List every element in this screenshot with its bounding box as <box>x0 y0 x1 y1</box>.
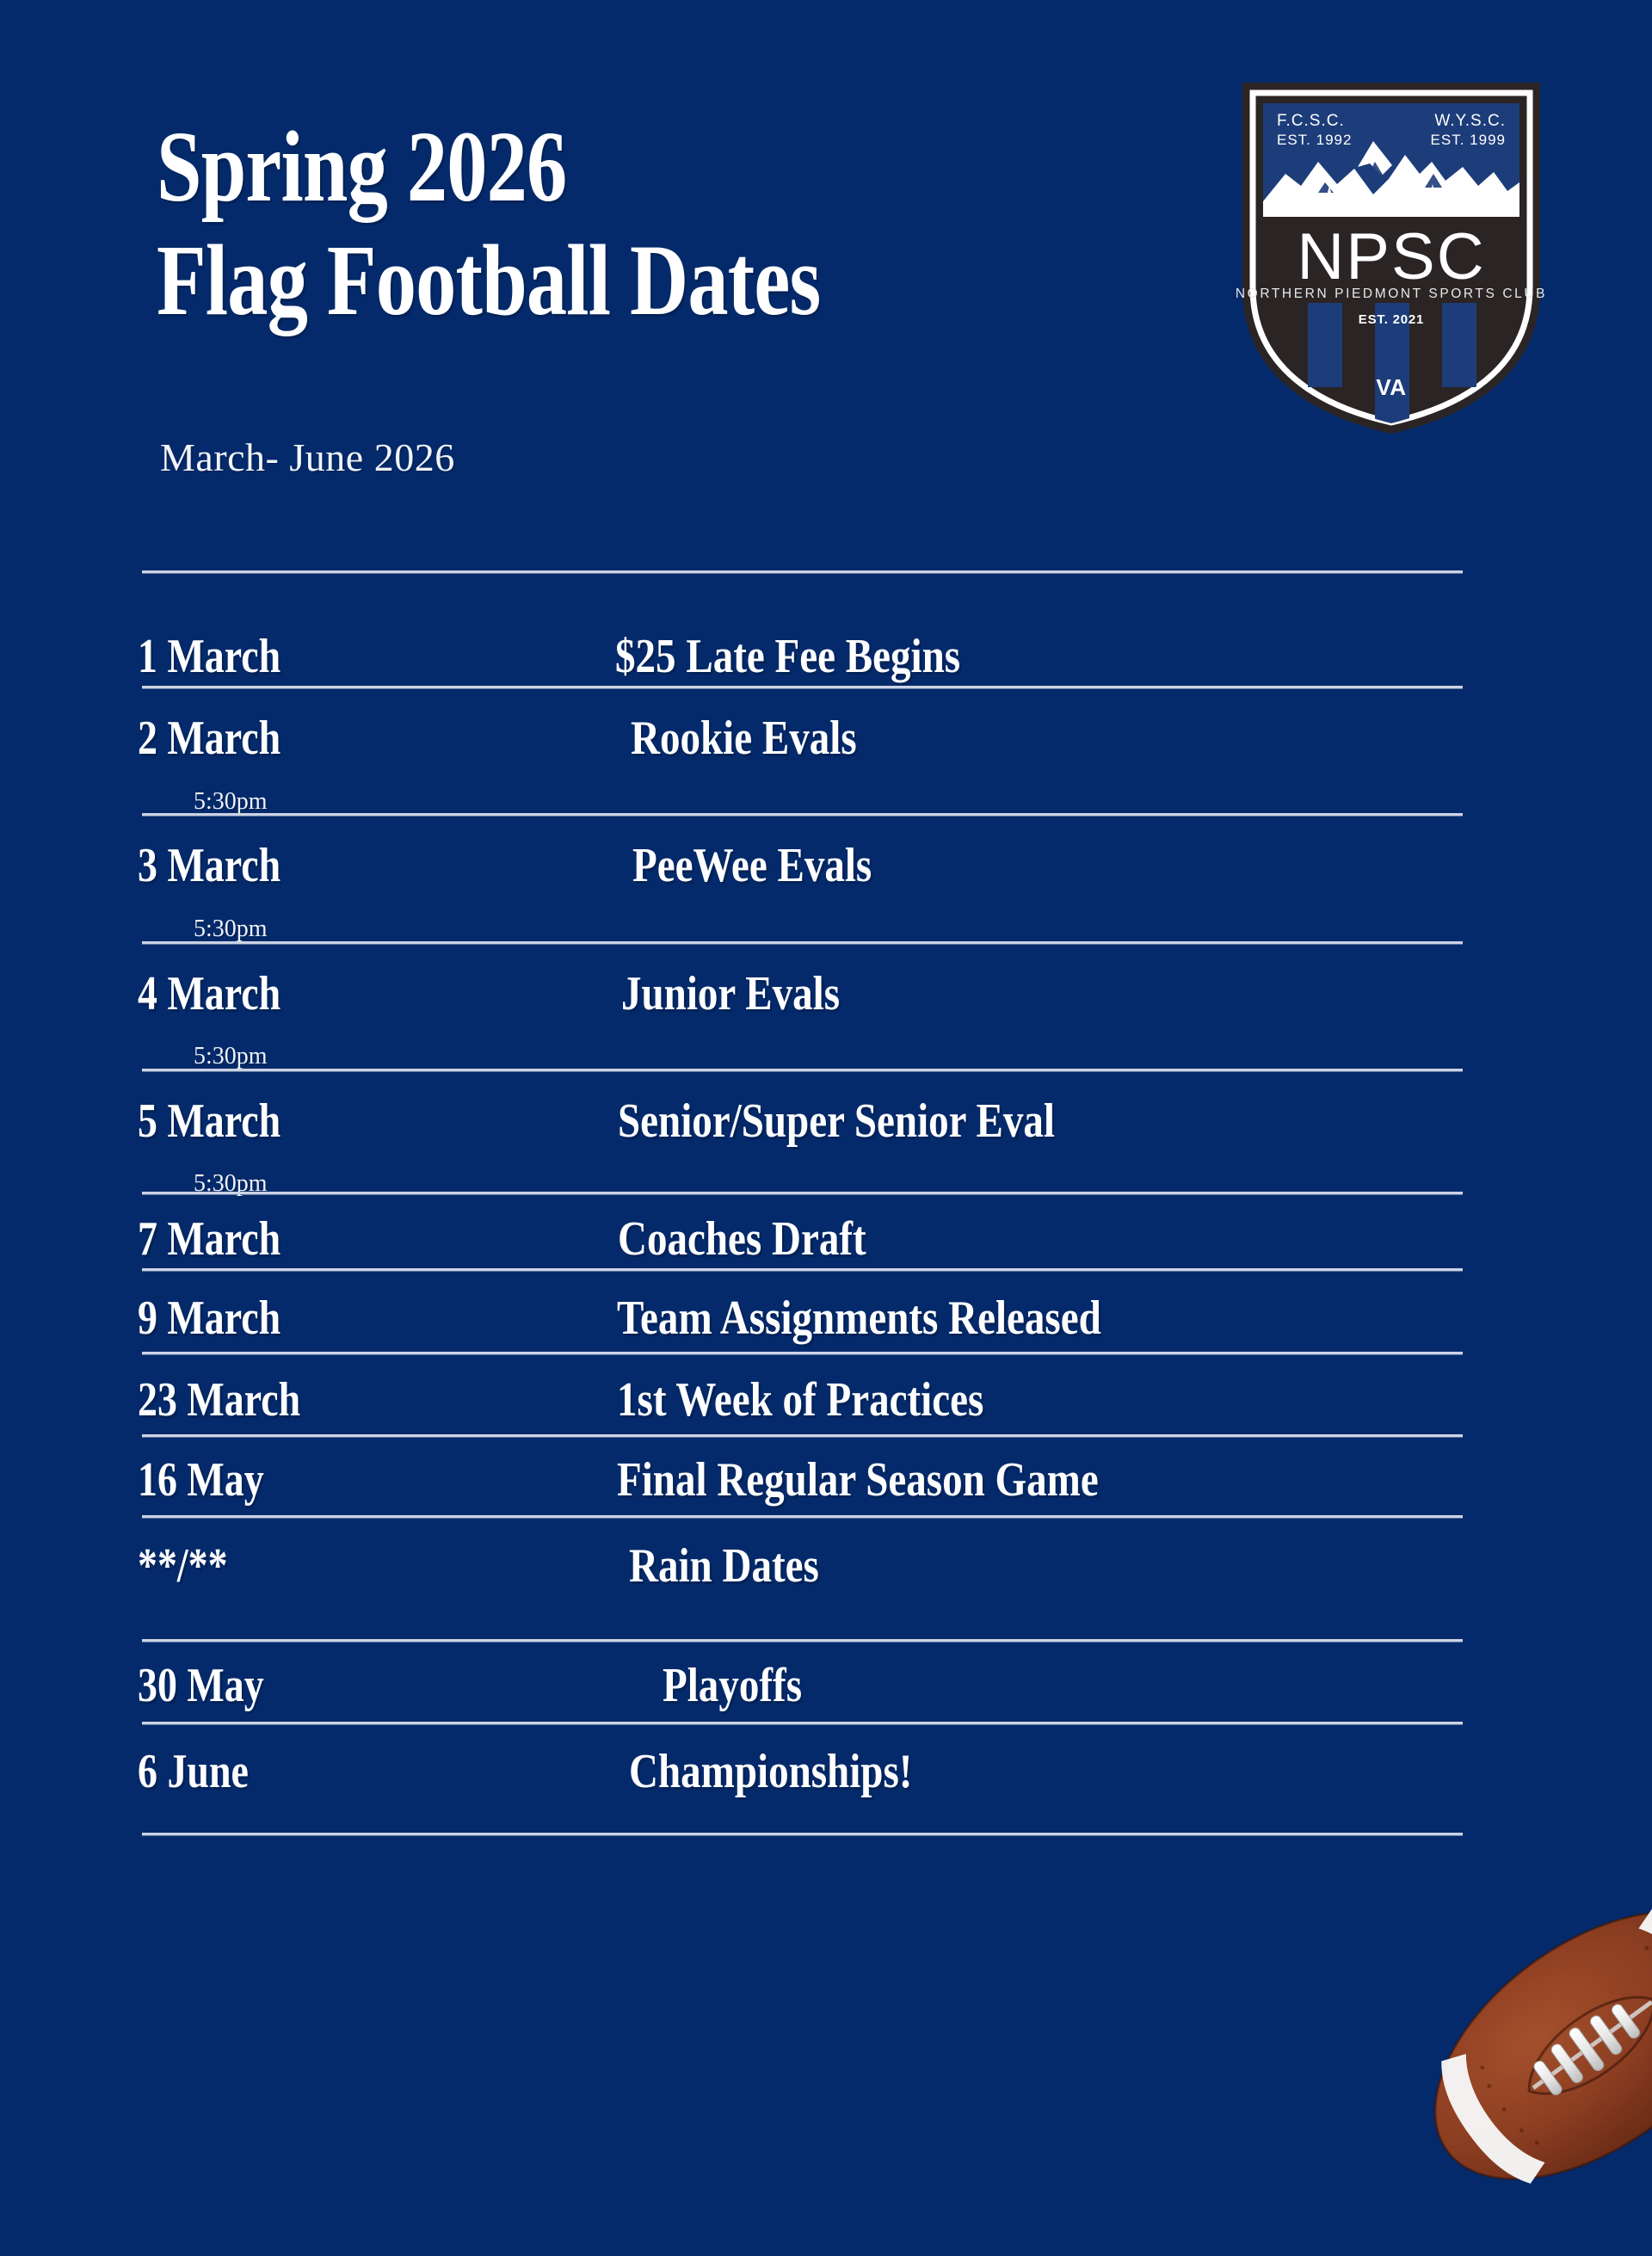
logo-left-est: EST. 1992 <box>1277 132 1352 148</box>
row-divider <box>142 686 1463 688</box>
row-divider <box>142 1268 1463 1271</box>
row-event: $25 Late Fee Begins <box>615 632 960 681</box>
logo-right-est: EST. 1999 <box>1431 132 1506 148</box>
row-divider <box>142 1434 1463 1437</box>
logo-right-org: W.Y.S.C. <box>1434 112 1506 130</box>
row-divider <box>142 1639 1463 1642</box>
row-event: PeeWee Evals <box>632 841 872 890</box>
row-divider <box>142 813 1463 816</box>
logo-established: EST. 2021 <box>1359 312 1424 327</box>
logo-state: VA <box>1376 374 1406 400</box>
row-time: 5:30pm <box>194 917 268 941</box>
row-date: 2 March <box>138 714 280 762</box>
row-date: 9 March <box>138 1294 280 1342</box>
row-date: **/** <box>138 1542 228 1590</box>
row-event: Rookie Evals <box>631 714 857 762</box>
row-date: 7 March <box>138 1215 280 1263</box>
npsc-shield-logo: F.C.S.C. EST. 1992 W.Y.S.C. EST. 1999 NP… <box>1229 72 1554 434</box>
row-date: 4 March <box>138 970 280 1018</box>
row-date: 5 March <box>138 1097 280 1145</box>
row-event: Senior/Super Senior Eval <box>618 1097 1055 1145</box>
poster-header: Spring 2026 Flag Football Dates March- J… <box>0 0 1652 516</box>
row-event: Championships! <box>629 1747 912 1796</box>
logo-monogram: NPSC <box>1297 220 1485 293</box>
row-date: 23 March <box>138 1376 300 1424</box>
row-divider <box>142 1069 1463 1071</box>
row-event: 1st Week of Practices <box>617 1376 983 1424</box>
row-divider <box>142 1352 1463 1354</box>
row-divider <box>142 1722 1463 1724</box>
row-date: 3 March <box>138 841 280 890</box>
row-time: 5:30pm <box>194 790 268 814</box>
row-event: Team Assignments Released <box>617 1294 1101 1342</box>
row-event: Final Regular Season Game <box>617 1456 1099 1504</box>
row-date: 16 May <box>138 1456 264 1504</box>
date-range-subtitle: March- June 2026 <box>160 435 455 480</box>
row-date: 6 June <box>138 1747 249 1796</box>
row-date: 30 May <box>138 1661 264 1710</box>
row-event: Rain Dates <box>629 1542 819 1590</box>
row-time: 5:30pm <box>194 1045 268 1069</box>
row-event: Coaches Draft <box>618 1215 866 1263</box>
title-line-2: Flag Football Dates <box>157 224 1017 337</box>
row-divider <box>142 570 1463 573</box>
row-divider <box>142 1192 1463 1194</box>
row-event: Playoffs <box>663 1661 802 1710</box>
title-line-1: Spring 2026 <box>157 110 1017 224</box>
football-icon <box>1370 1835 1652 2256</box>
page-title: Spring 2026 Flag Football Dates <box>157 110 1232 337</box>
row-divider <box>142 1515 1463 1518</box>
row-event: Junior Evals <box>621 970 840 1018</box>
logo-left-org: F.C.S.C. <box>1277 112 1345 130</box>
logo-full-name: NORTHERN PIEDMONT SPORTS CLUB <box>1236 287 1547 301</box>
row-divider <box>142 1833 1463 1835</box>
row-divider <box>142 941 1463 944</box>
row-date: 1 March <box>138 632 280 681</box>
